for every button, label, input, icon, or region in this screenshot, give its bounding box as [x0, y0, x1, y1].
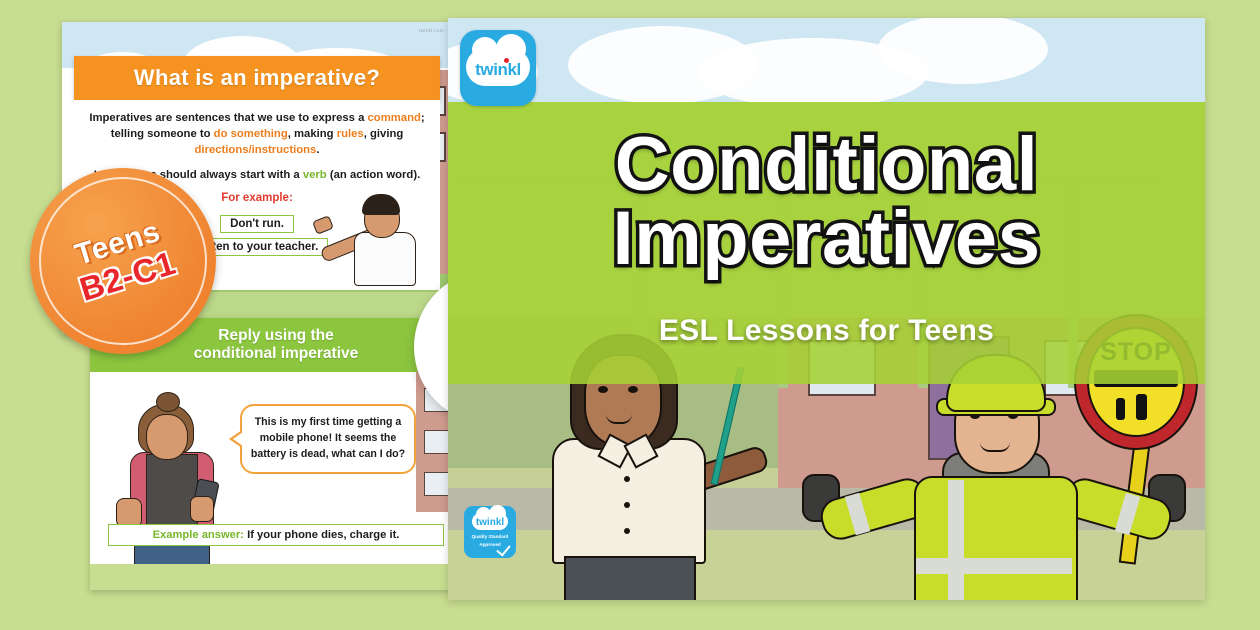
example-box: Don't run. [220, 215, 294, 233]
para1-rules: rules [337, 128, 364, 140]
speech-bubble: This is my first time getting a mobile p… [240, 404, 416, 474]
hi-vis-stripe [948, 480, 964, 600]
para1-part5: . [316, 144, 319, 156]
para1-part1: Imperatives are sentences that we use to… [89, 112, 367, 124]
card1-title-banner: What is an imperative? [74, 56, 440, 100]
button-shape [624, 476, 630, 482]
twinkl-logo: twinkl [460, 30, 536, 106]
example-answer-text: If your phone dies, charge it. [247, 529, 399, 541]
head-shape [146, 414, 188, 460]
torso-shape [354, 232, 416, 286]
hi-vis-stripe [916, 558, 1072, 574]
para2-part2: (an action word). [327, 169, 421, 181]
watermark-text: twinkl.com [419, 28, 444, 33]
card1-title-text: What is an imperative? [134, 65, 380, 91]
card2-title-line1: Reply using the [218, 327, 333, 345]
quality-badge-word: twinkl [464, 517, 516, 528]
twinkl-logo-text: twinkl [460, 60, 536, 80]
hair-bun-shape [156, 392, 180, 412]
para2-verb: verb [303, 169, 327, 181]
cover-title-line1: Conditional [448, 128, 1205, 202]
right-hand-shape [190, 496, 214, 522]
quality-standard-approved-badge: twinkl Quality Standard Approved [464, 506, 516, 558]
button-shape [624, 502, 630, 508]
resource-cover-image[interactable]: STOP twinkl [448, 18, 1205, 600]
para1-directions: directions/instructions [195, 144, 317, 156]
cover-subtitle: ESL Lessons for Teens [448, 314, 1205, 348]
example-answer-label: Example answer: [153, 529, 244, 541]
pointing-student-illustration [322, 190, 418, 286]
example-answer-box: Example answer: If your phone dies, char… [108, 524, 444, 546]
eye-shape [628, 386, 638, 393]
card1-paragraph-1: Imperatives are sentences that we use to… [82, 110, 432, 158]
cover-title: Conditional Imperatives [448, 128, 1205, 277]
button-shape [624, 528, 630, 534]
quality-badge-line1: Quality Standard [464, 534, 516, 539]
card2-footer-strip [90, 564, 462, 590]
logo-red-dot-icon [504, 58, 509, 63]
teens-level-badge: Teens B2-C1 [30, 168, 216, 354]
para1-part4: , giving [364, 128, 404, 140]
para1-do-something: do something [214, 128, 288, 140]
screenshot-stage: twinkl.com What is an imperative? Impera… [0, 0, 1260, 630]
hi-vis-coat-shape [914, 476, 1078, 600]
hair-shape [362, 194, 400, 215]
para1-part3: , making [288, 128, 337, 140]
preview-slide-reply-using-conditional-imperative[interactable]: Reply using the conditional imperative T… [90, 318, 462, 590]
eye-shape [598, 386, 608, 393]
crossing-guard-illustration [828, 354, 1158, 600]
para1-command: command [368, 112, 421, 124]
cover-title-line2: Imperatives [448, 202, 1205, 276]
trousers-shape [564, 556, 696, 600]
resource-preview-stack: twinkl.com What is an imperative? Impera… [52, 18, 452, 612]
card2-title-line2: conditional imperative [194, 345, 359, 363]
